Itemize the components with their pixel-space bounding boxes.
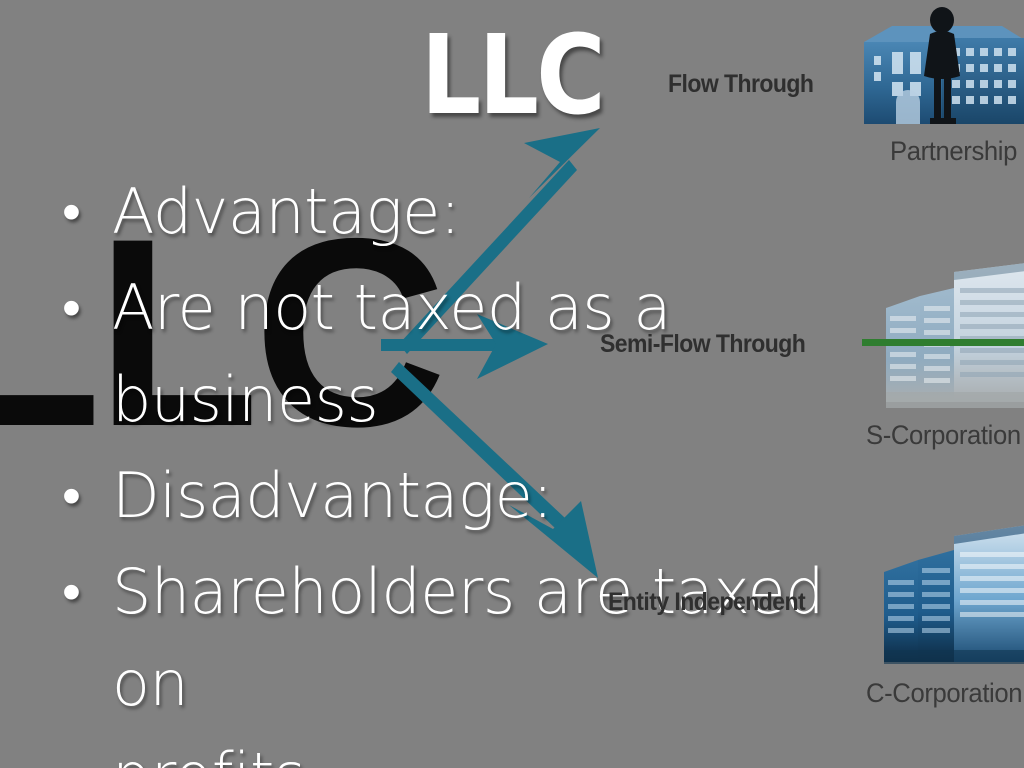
list-item: • Shareholders are taxed on profits xyxy=(52,546,882,768)
bullet-text: Shareholders are taxed on profits xyxy=(96,546,882,768)
bullet-marker-icon: • xyxy=(52,262,96,354)
list-item: • Disadvantage: xyxy=(52,450,882,542)
slide-canvas: LLC LLC • Advantage: xyxy=(0,0,1024,768)
bullet-marker-icon: • xyxy=(52,166,96,258)
bullet-marker-icon: • xyxy=(52,450,96,542)
green-divider-line xyxy=(862,339,1024,346)
bullet-text: Disadvantage: xyxy=(96,450,882,542)
bullet-text: Advantage: xyxy=(96,166,882,258)
list-item: • Advantage: xyxy=(52,166,882,258)
s-corporation-building-icon xyxy=(858,252,1024,420)
partnership-building-icon xyxy=(852,4,1024,134)
entity-name-s-corporation: S-Corporation xyxy=(866,420,1021,451)
c-corporation-building-icon xyxy=(858,510,1024,678)
entity-name-partnership: Partnership xyxy=(890,136,1017,167)
label-entity-independent: Entity Independent xyxy=(608,588,805,617)
page-title: LLC xyxy=(72,16,953,134)
label-flow-through: Flow Through xyxy=(668,70,813,99)
bullet-marker-icon: • xyxy=(52,546,96,638)
label-semi-flow-through: Semi-Flow Through xyxy=(600,330,805,359)
entity-name-c-corporation: C-Corporation xyxy=(866,678,1022,709)
bullet-list: • Advantage: • Are not taxed as a busine… xyxy=(52,166,882,768)
